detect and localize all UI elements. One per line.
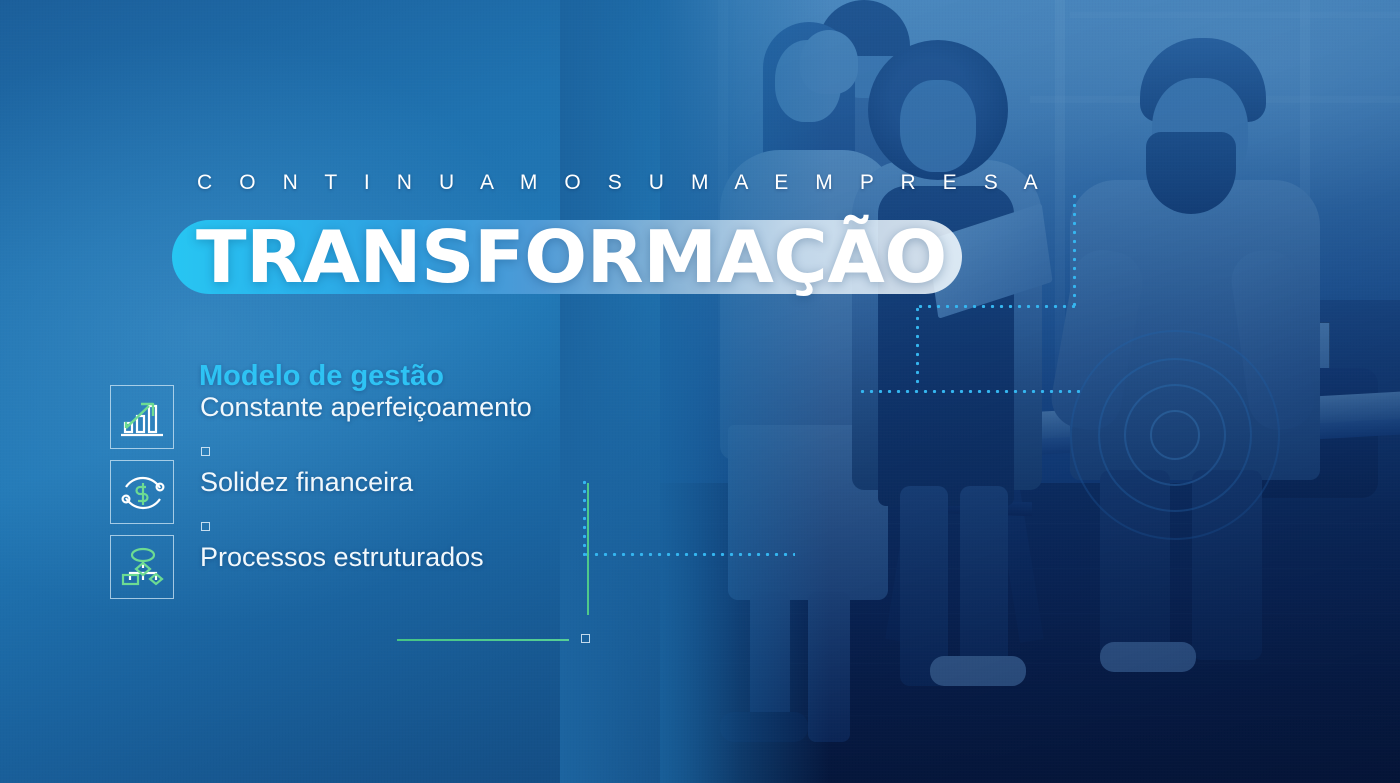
feature-label: Solidez financeira <box>200 467 413 498</box>
slide-canvas: C O N T I N U A M O S U M A E M P R E S … <box>0 0 1400 783</box>
accent-line-vertical <box>587 483 589 615</box>
square-marker-icon <box>201 447 210 456</box>
square-marker-icon <box>201 522 210 531</box>
square-marker-icon <box>581 634 590 643</box>
feature-label: Constante aperfeiçoamento <box>200 392 532 423</box>
feature-label: Processos estruturados <box>200 542 484 573</box>
flowchart-icon <box>110 535 174 599</box>
page-title: TRANSFORMAÇÃO <box>196 216 947 298</box>
accent-line-horizontal <box>397 639 569 641</box>
money-cycle-icon <box>110 460 174 524</box>
growth-chart-icon <box>110 385 174 449</box>
panel-right-fade <box>560 0 740 783</box>
section-heading: Modelo de gestão <box>199 360 444 393</box>
kicker-text: C O N T I N U A M O S U M A E M P R E S … <box>197 171 1048 195</box>
